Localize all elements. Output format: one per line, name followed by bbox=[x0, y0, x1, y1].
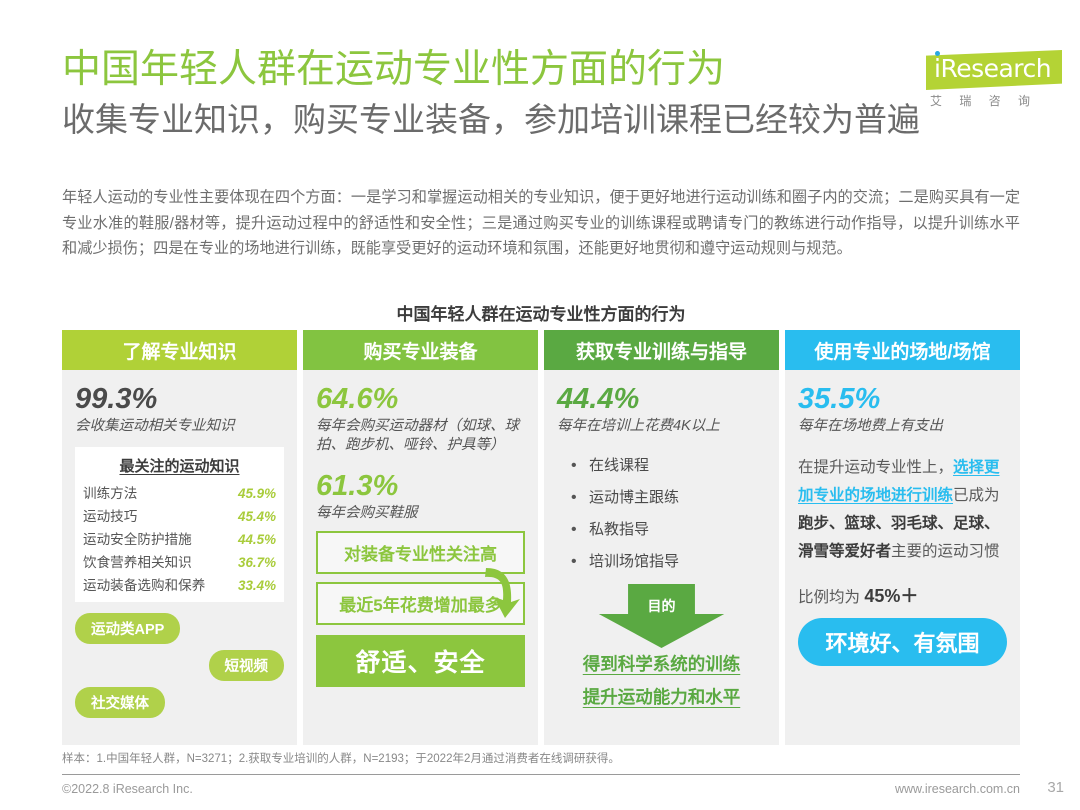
row-label: 运动安全防护措施 bbox=[83, 528, 192, 548]
row-value: 44.5% bbox=[238, 532, 276, 547]
pill-good-environment: 环境好、有氛围 bbox=[798, 618, 1007, 666]
stat-desc-2b: 每年会购买鞋服 bbox=[316, 504, 525, 523]
purpose-arrow-block: 目的 bbox=[557, 584, 766, 648]
curved-arrow-down-right-icon bbox=[478, 566, 524, 620]
column-body-4: 35.5% 每年在场地费上有支出 在提升运动专业性上，选择更加专业的场地进行训练… bbox=[785, 370, 1020, 745]
row-label: 饮食营养相关知识 bbox=[83, 551, 192, 571]
row-value: 36.7% bbox=[238, 555, 276, 570]
knowledge-card-title: 最关注的运动知识 bbox=[81, 455, 278, 480]
row-value: 45.9% bbox=[238, 486, 276, 501]
stat-value-1: 99.3% bbox=[75, 382, 284, 416]
venue-paragraph: 在提升运动专业性上，选择更加专业的场地进行训练已成为跑步、篮球、羽毛球、足球、滑… bbox=[798, 454, 1007, 566]
column-header-2: 购买专业装备 bbox=[303, 330, 538, 370]
footer-divider bbox=[62, 774, 1020, 775]
venue-text-a: 在提升运动专业性上， bbox=[798, 459, 953, 476]
training-type-list: 在线课程 运动博主跟练 私教指导 培训场馆指导 bbox=[557, 450, 766, 578]
column-know-knowledge: 了解专业知识 99.3% 会收集运动相关专业知识 最关注的运动知识 训练方法 4… bbox=[62, 330, 297, 745]
website-link[interactable]: www.iresearch.com.cn bbox=[895, 782, 1020, 796]
table-row: 运动技巧 45.4% bbox=[81, 503, 278, 526]
stat-value-2: 64.6% bbox=[316, 382, 525, 416]
list-item: 私教指导 bbox=[571, 514, 766, 546]
chart-grid: 了解专业知识 99.3% 会收集运动相关专业知识 最关注的运动知识 训练方法 4… bbox=[62, 330, 1020, 745]
row-value: 33.4% bbox=[238, 578, 276, 593]
list-item: 培训场馆指导 bbox=[571, 546, 766, 578]
table-row: 训练方法 45.9% bbox=[81, 480, 278, 503]
chart-title: 中国年轻人群在运动专业性方面的行为 bbox=[62, 300, 1020, 325]
pill-social-media: 社交媒体 bbox=[75, 687, 165, 718]
channel-pill-group: 运动类APP 短视频 社交媒体 bbox=[75, 613, 284, 718]
table-row: 饮食营养相关知识 36.7% bbox=[81, 549, 278, 572]
stat-desc-3: 每年在培训上花费4K以上 bbox=[557, 417, 766, 436]
logo-wordmark: iResearch bbox=[934, 54, 1060, 84]
row-value: 45.4% bbox=[238, 509, 276, 524]
sample-note: 样本：1.中国年轻人群，N=3271；2.获取专业培训的人群，N=2193；于2… bbox=[62, 752, 1020, 767]
venue-text-c: 主要的运动习惯 bbox=[891, 543, 1000, 560]
page-number: 31 bbox=[1047, 779, 1064, 796]
column-training-guidance: 获取专业训练与指导 44.4% 每年在培训上花费4K以上 在线课程 运动博主跟练… bbox=[544, 330, 779, 745]
logo-chinese-name: 艾 瑞 咨 询 bbox=[930, 92, 1062, 109]
stat-desc-4: 每年在场地费上有支出 bbox=[798, 417, 1007, 436]
venue-text-b: 已成为 bbox=[953, 487, 1000, 504]
curved-arrow-down-left-icon bbox=[313, 633, 359, 689]
page-subtitle: 收集专业知识，购买专业装备，参加培训课程已经较为普遍 bbox=[62, 98, 920, 142]
intro-paragraph: 年轻人运动的专业性主要体现在四个方面：一是学习和掌握运动相关的专业知识，便于更好… bbox=[62, 185, 1020, 262]
stat-value-4: 35.5% bbox=[798, 382, 1007, 416]
row-label: 训练方法 bbox=[83, 482, 137, 502]
column-buy-equipment: 购买专业装备 64.6% 每年会购买运动器材（如球、球拍、跑步机、哑铃、护具等）… bbox=[303, 330, 538, 745]
column-body-2: 64.6% 每年会购买运动器材（如球、球拍、跑步机、哑铃、护具等） 61.3% … bbox=[303, 370, 538, 745]
table-row: 运动安全防护措施 44.5% bbox=[81, 526, 278, 549]
row-label: 运动装备选购和保养 bbox=[83, 574, 205, 594]
iresearch-logo: iResearch 艾 瑞 咨 询 bbox=[920, 48, 1062, 114]
stat-desc-2: 每年会购买运动器材（如球、球拍、跑步机、哑铃、护具等） bbox=[316, 417, 525, 455]
stat-value-3: 44.4% bbox=[557, 382, 766, 416]
slide-header: 中国年轻人群在运动专业性方面的行为 收集专业知识，购买专业装备，参加培训课程已经… bbox=[62, 46, 1020, 142]
column-body-3: 44.4% 每年在培训上花费4K以上 在线课程 运动博主跟练 私教指导 培训场馆… bbox=[544, 370, 779, 745]
table-row: 运动装备选购和保养 33.4% bbox=[81, 572, 278, 595]
knowledge-card: 最关注的运动知识 训练方法 45.9% 运动技巧 45.4% 运动安全防护措施 … bbox=[75, 447, 284, 602]
ratio-line: 比例均为 45%＋ bbox=[798, 582, 1007, 608]
arrow-label-purpose: 目的 bbox=[557, 596, 766, 616]
slide-page: 中国年轻人群在运动专业性方面的行为 收集专业知识，购买专业装备，参加培训课程已经… bbox=[0, 0, 1080, 810]
stat-value-2b: 61.3% bbox=[316, 469, 525, 503]
list-item: 运动博主跟练 bbox=[571, 482, 766, 514]
stat-desc-1: 会收集运动相关专业知识 bbox=[75, 417, 284, 436]
ratio-value: 45%＋ bbox=[864, 586, 918, 606]
column-header-1: 了解专业知识 bbox=[62, 330, 297, 370]
list-item: 在线课程 bbox=[571, 450, 766, 482]
row-label: 运动技巧 bbox=[83, 505, 137, 525]
copyright-text: ©2022.8 iResearch Inc. bbox=[62, 782, 193, 796]
ratio-label: 比例均为 bbox=[798, 589, 864, 606]
pill-short-video: 短视频 bbox=[209, 650, 285, 681]
pill-sports-app: 运动类APP bbox=[75, 613, 180, 644]
column-body-1: 99.3% 会收集运动相关专业知识 最关注的运动知识 训练方法 45.9% 运动… bbox=[62, 370, 297, 745]
goal-line-1: 得到科学系统的训练 bbox=[557, 648, 766, 681]
page-title: 中国年轻人群在运动专业性方面的行为 bbox=[62, 46, 920, 94]
goal-line-2: 提升运动能力和水平 bbox=[557, 681, 766, 714]
footer-bar: ©2022.8 iResearch Inc. www.iresearch.com… bbox=[62, 782, 1020, 796]
column-header-3: 获取专业训练与指导 bbox=[544, 330, 779, 370]
column-header-4: 使用专业的场地/场馆 bbox=[785, 330, 1020, 370]
arrow-down-icon bbox=[557, 584, 766, 648]
column-professional-venue: 使用专业的场地/场馆 35.5% 每年在场地费上有支出 在提升运动专业性上，选择… bbox=[785, 330, 1020, 745]
